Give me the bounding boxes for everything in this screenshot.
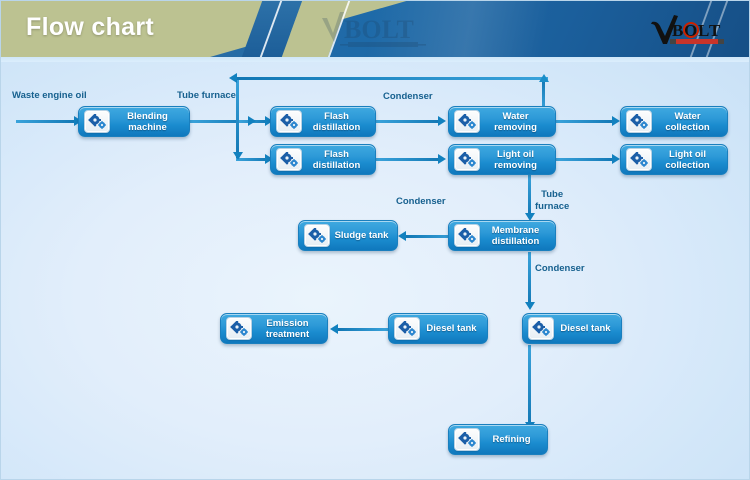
caption-condenser-bottom: Condenser	[535, 263, 585, 275]
gears-icon	[84, 110, 110, 133]
connector-input	[16, 120, 76, 123]
node-label: Diesel tank	[420, 323, 487, 334]
node-diesel-tank-2[interactable]: Diesel tank	[522, 313, 622, 344]
arrowhead-junction-down	[233, 152, 243, 160]
connector-membrane-to-diesel	[528, 252, 531, 307]
caption-tube-furnace-2: Tube furnace	[535, 189, 569, 212]
arrowhead-lightoil-in	[438, 154, 446, 164]
node-label: Light oil collection	[652, 149, 727, 171]
company-logo: B O L T	[650, 14, 742, 51]
connector-flash1-to-water	[376, 120, 441, 123]
arrowhead-return-left	[229, 73, 237, 83]
gears-icon	[276, 110, 302, 133]
connector-return-top	[236, 77, 548, 80]
node-light-oil-removing[interactable]: Light oil removing	[448, 144, 556, 175]
node-light-oil-collection[interactable]: Light oil collection	[620, 144, 728, 175]
node-diesel-tank-1[interactable]: Diesel tank	[388, 313, 488, 344]
caption-waste-engine-oil: Waste engine oil	[12, 90, 87, 102]
node-refining[interactable]: Refining	[448, 424, 548, 455]
node-label: Membrane distillation	[480, 225, 555, 247]
caption-condenser-mid: Condenser	[396, 196, 446, 208]
node-label: Blending machine	[110, 111, 189, 133]
connector-diesel-to-emission	[338, 328, 388, 331]
node-label: Flash distillation	[302, 111, 375, 133]
arrowhead-emission-in	[330, 324, 338, 334]
node-membrane-distillation[interactable]: Membrane distillation	[448, 220, 556, 251]
node-label: Refining	[480, 434, 547, 445]
arrowhead-blending	[248, 116, 256, 126]
node-sludge-tank[interactable]: Sludge tank	[298, 220, 398, 251]
slide-header: BOLT Flow chart	[0, 0, 750, 57]
header-underline	[0, 57, 750, 62]
node-label: Emission treatment	[252, 318, 327, 340]
caption-tube-furnace-1: Tube furnace	[177, 90, 236, 102]
gears-icon	[454, 110, 480, 133]
node-emission-treatment[interactable]: Emission treatment	[220, 313, 328, 344]
connector-diesel-to-refining	[528, 345, 531, 427]
page-title: Flow chart	[26, 13, 154, 42]
node-label: Flash distillation	[302, 149, 375, 171]
node-label: Sludge tank	[330, 230, 397, 241]
gears-icon	[626, 110, 652, 133]
gears-icon	[454, 148, 480, 171]
arrowhead-water-in	[438, 116, 446, 126]
header-watermark-logo: BOLT	[318, 8, 468, 57]
flow-chart-slide: BOLT Flow chart B O L T	[0, 0, 750, 480]
connector-water-to-collection	[556, 120, 615, 123]
svg-text:T: T	[709, 21, 721, 40]
gears-icon	[276, 148, 302, 171]
arrowhead-diesel-in	[525, 302, 535, 310]
arrowhead-water-up	[539, 74, 549, 82]
gears-icon	[226, 317, 252, 340]
node-flash-distillation-2[interactable]: Flash distillation	[270, 144, 376, 175]
connector-lightoil-to-membrane	[528, 174, 531, 218]
arrowhead-water-collection	[612, 116, 620, 126]
arrowhead-sludge-in	[398, 231, 406, 241]
caption-condenser-top: Condenser	[383, 91, 433, 103]
node-water-removing[interactable]: Water removing	[448, 106, 556, 137]
node-label: Water removing	[480, 111, 555, 133]
gears-icon	[454, 428, 480, 451]
connector-junction-vertical	[236, 78, 239, 158]
connector-flash2-to-lightoil	[376, 158, 441, 161]
svg-text:L: L	[698, 21, 709, 40]
gears-icon	[528, 317, 554, 340]
node-flash-distillation-1[interactable]: Flash distillation	[270, 106, 376, 137]
gears-icon	[394, 317, 420, 340]
connector-lightoil-to-collection	[556, 158, 615, 161]
node-blending-machine[interactable]: Blending machine	[78, 106, 190, 137]
node-label: Diesel tank	[554, 323, 621, 334]
arrowhead-lightoil-collection	[612, 154, 620, 164]
svg-text:B: B	[672, 21, 683, 40]
gears-icon	[626, 148, 652, 171]
node-label: Light oil removing	[480, 149, 555, 171]
gears-icon	[304, 224, 330, 247]
gears-icon	[454, 224, 480, 247]
node-water-collection[interactable]: Water collection	[620, 106, 728, 137]
svg-text:BOLT: BOLT	[344, 15, 414, 44]
node-label: Water collection	[652, 111, 727, 133]
